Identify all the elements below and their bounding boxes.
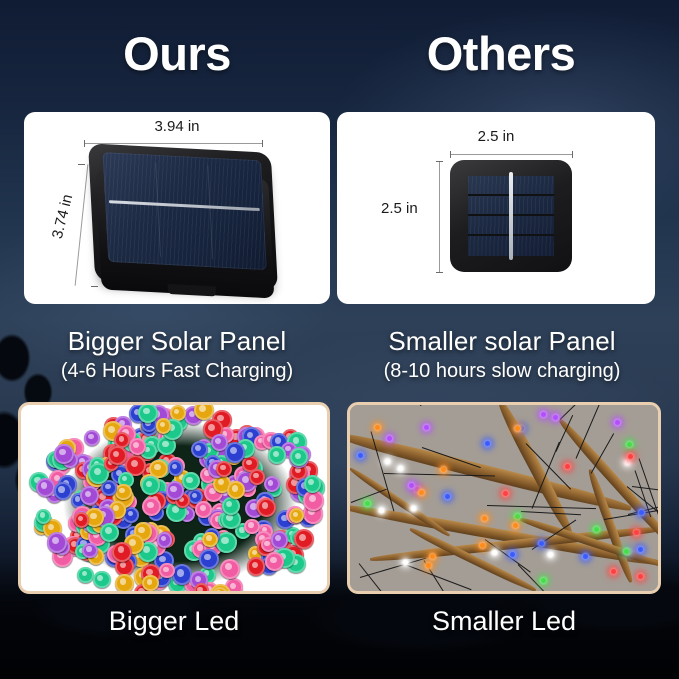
led-light-point xyxy=(445,494,450,499)
led-bulb xyxy=(194,583,209,594)
led-bulb xyxy=(115,484,132,501)
headings-row: Ours Others xyxy=(0,0,679,108)
led-bulb xyxy=(159,563,174,578)
ours-caption-line2: (4-6 Hours Fast Charging) xyxy=(18,358,336,384)
others-led-card xyxy=(347,402,661,594)
led-bulb xyxy=(36,478,55,497)
led-bulb xyxy=(156,418,171,433)
ours-solar-panel-image xyxy=(88,143,278,290)
led-bulb xyxy=(141,476,159,494)
led-light-point xyxy=(539,541,544,546)
led-bulb xyxy=(47,532,67,552)
led-bulb xyxy=(182,472,200,490)
ours-height-dimension-line xyxy=(75,164,89,285)
others-caption-line2: (8-10 hours slow charging) xyxy=(343,358,661,384)
ours-height-tick-end xyxy=(91,286,98,287)
led-bulb xyxy=(199,549,219,569)
ours-width-tick-end xyxy=(262,140,263,147)
others-panel-caption: Smaller solar Panel (8-10 hours slow cha… xyxy=(343,325,661,384)
led-light-point xyxy=(553,415,558,420)
ours-panel-notch xyxy=(167,284,216,297)
led-light-point xyxy=(611,569,616,574)
others-led-caption: Smaller Led xyxy=(347,604,661,638)
light-string-wire xyxy=(487,505,596,509)
led-bulb xyxy=(220,559,240,579)
led-bulb xyxy=(115,574,134,593)
led-bulb xyxy=(93,571,111,589)
led-bulb xyxy=(244,519,259,534)
led-light-point xyxy=(441,467,446,472)
led-light-point xyxy=(480,543,485,548)
led-bulb xyxy=(268,446,286,464)
led-bulb xyxy=(289,508,304,523)
led-bulb xyxy=(247,557,265,575)
led-bulb xyxy=(249,469,265,485)
led-light-point xyxy=(510,552,515,557)
led-light-point xyxy=(387,436,392,441)
led-light-point xyxy=(638,574,643,579)
led-bulb xyxy=(271,531,289,549)
others-panel-height-label: 2.5 in xyxy=(381,200,418,217)
tree-branch xyxy=(586,468,635,584)
led-bulb xyxy=(202,532,218,548)
ours-width-tick-start xyxy=(84,140,85,147)
led-light-point xyxy=(634,530,639,535)
led-bulb xyxy=(191,441,208,458)
led-light-point xyxy=(426,563,431,568)
light-string-wire xyxy=(560,402,613,420)
led-light-point xyxy=(492,550,497,555)
led-light-point xyxy=(419,490,424,495)
led-bulb xyxy=(166,481,185,500)
led-bulb xyxy=(225,442,246,463)
led-light-point xyxy=(548,552,553,557)
led-bulb xyxy=(138,403,158,423)
led-light-point xyxy=(513,523,518,528)
led-light-point xyxy=(409,483,414,488)
others-height-tick-start xyxy=(436,161,443,162)
light-string-wire xyxy=(521,511,581,515)
others-caption-line1: Smaller solar Panel xyxy=(343,325,661,357)
led-light-point xyxy=(365,501,370,506)
others-height-dimension-line xyxy=(439,161,440,273)
ours-panel-seam-1 xyxy=(155,163,161,257)
others-solar-panel-image xyxy=(450,160,572,272)
led-bulb xyxy=(157,532,172,547)
led-light-point xyxy=(638,547,643,552)
led-bulb xyxy=(82,543,97,558)
led-bulb xyxy=(80,486,99,505)
ours-panel-height-label: 3.74 in xyxy=(49,193,76,241)
ours-panel-glass xyxy=(102,152,266,270)
led-bulb xyxy=(142,575,158,591)
led-light-point xyxy=(424,425,429,430)
ours-led-card xyxy=(18,402,330,594)
led-light-point xyxy=(624,549,629,554)
comparison-infographic: Ours Others 3.94 in 3.74 in xyxy=(0,0,679,679)
led-light-point xyxy=(515,514,520,519)
led-light-point xyxy=(515,426,520,431)
led-bulb xyxy=(74,512,90,528)
led-light-point xyxy=(565,464,570,469)
ours-led-caption: Bigger Led xyxy=(18,604,330,638)
led-light-point xyxy=(485,441,490,446)
led-light-point xyxy=(541,412,546,417)
others-panel-busbar xyxy=(509,172,513,260)
led-light-point xyxy=(358,453,363,458)
others-solar-panel-card: 2.5 in 2.5 in xyxy=(337,112,655,304)
led-light-point xyxy=(430,554,435,559)
led-light-point xyxy=(627,442,632,447)
others-panel-width-label: 2.5 in xyxy=(337,128,655,145)
led-light-point xyxy=(503,491,508,496)
light-string-wire xyxy=(631,486,661,492)
ours-solar-panel-card: 3.94 in 3.74 in xyxy=(24,112,330,304)
others-height-tick-end xyxy=(436,272,443,273)
led-bulb xyxy=(168,460,183,475)
led-light-point xyxy=(583,554,588,559)
led-light-point xyxy=(615,420,620,425)
others-width-dimension-line xyxy=(450,154,572,155)
ours-caption-line1: Bigger Solar Panel xyxy=(18,325,336,357)
others-width-tick-end xyxy=(572,151,573,158)
led-light-point xyxy=(482,516,487,521)
led-light-point xyxy=(541,578,546,583)
led-bulb xyxy=(36,509,51,524)
led-bulb xyxy=(84,430,100,446)
led-bulb xyxy=(112,542,132,562)
ours-panel-seam-2 xyxy=(208,166,214,260)
led-light-point xyxy=(385,459,390,464)
led-bulb xyxy=(304,475,321,492)
light-string-wire xyxy=(359,563,414,594)
light-string-wire xyxy=(405,564,472,590)
led-light-point xyxy=(379,508,384,513)
ours-panel-caption: Bigger Solar Panel (4-6 Hours Fast Charg… xyxy=(18,325,336,384)
ours-panel-width-label: 3.94 in xyxy=(24,118,330,135)
heading-ours: Ours xyxy=(24,26,330,82)
led-light-point xyxy=(398,466,403,471)
led-light-point xyxy=(628,454,633,459)
led-light-point xyxy=(625,460,630,465)
ours-height-tick-start xyxy=(78,164,85,165)
heading-others: Others xyxy=(347,26,655,82)
led-light-point xyxy=(375,425,380,430)
others-width-tick-start xyxy=(450,151,451,158)
light-string-wire xyxy=(517,564,556,594)
tree-branch xyxy=(348,466,451,539)
ours-led-bulb-cluster xyxy=(21,405,327,591)
led-bulb xyxy=(257,498,276,517)
led-bulb xyxy=(222,497,240,515)
others-led-branch-scene xyxy=(350,405,658,591)
led-bulb xyxy=(54,444,73,463)
